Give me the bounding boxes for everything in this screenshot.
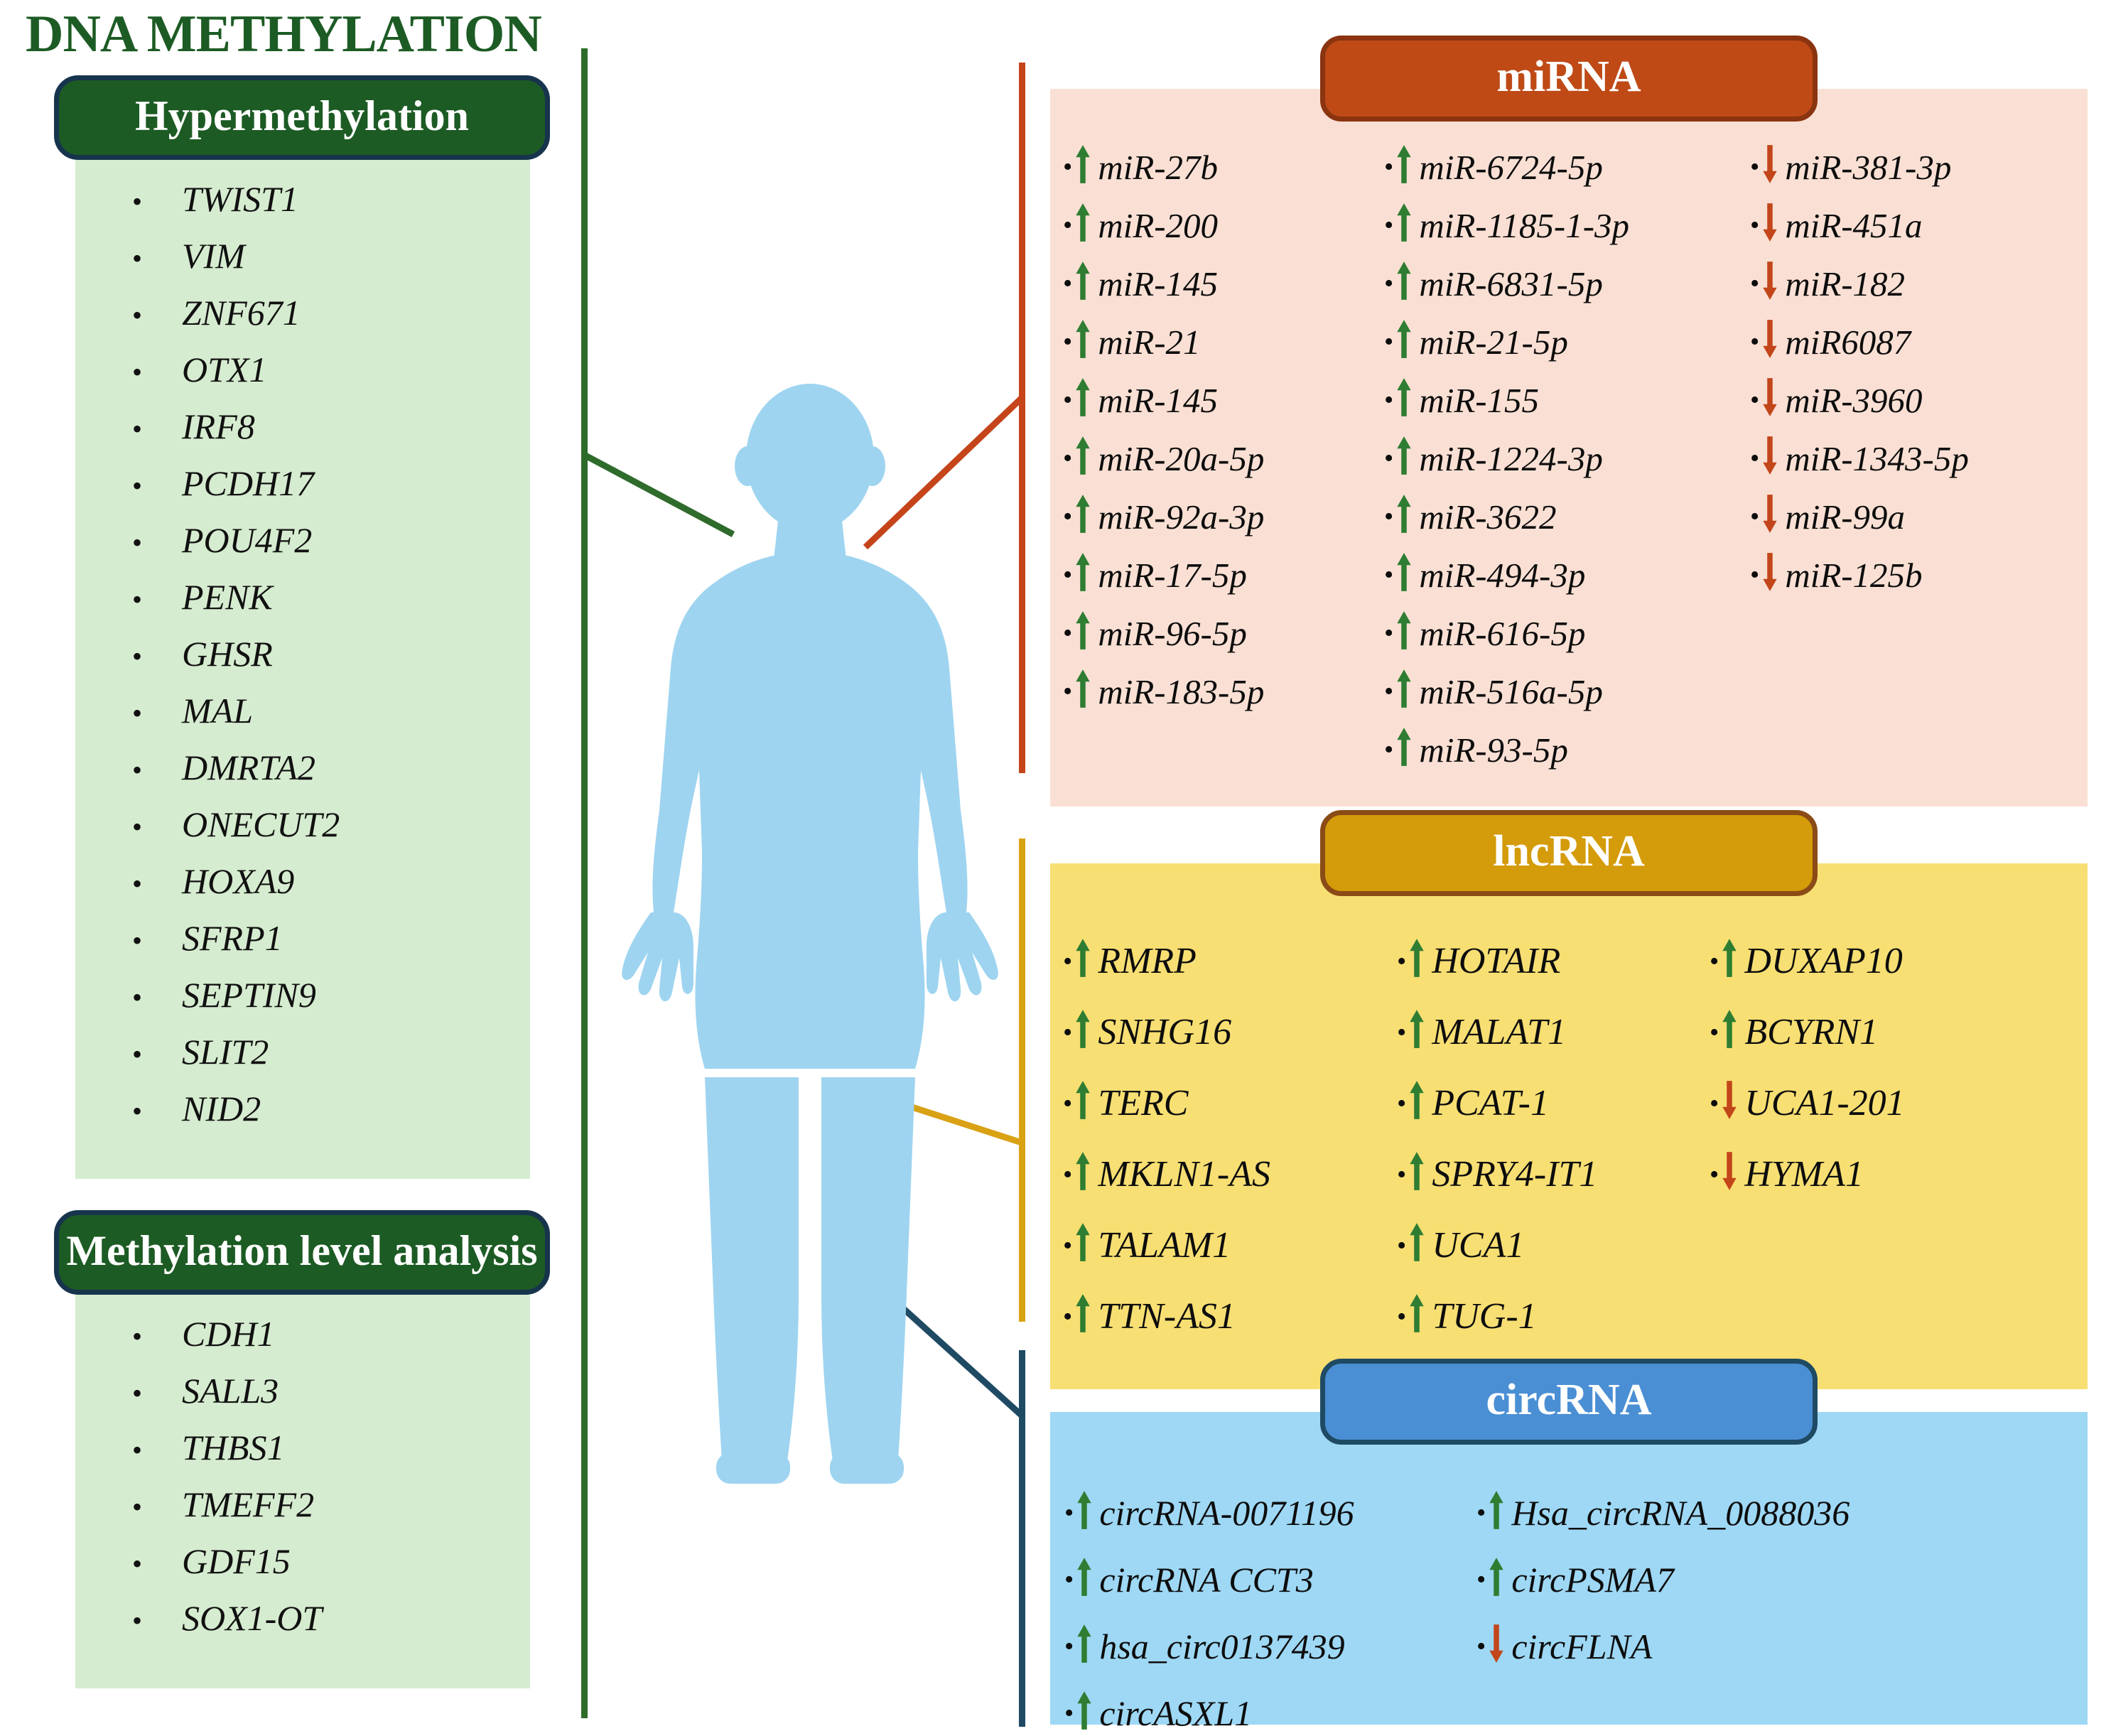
bullet-icon: • (1397, 1019, 1406, 1046)
arrow-up-icon (1074, 1293, 1091, 1333)
gene-list-item: •TWIST1 (75, 181, 530, 217)
mirna-column-3: •miR-381-3p•miR-451a•miR-182•miR6087•miR… (1750, 144, 2073, 778)
regulation-down-icon (1761, 436, 1780, 481)
rna-name: miR-182 (1785, 266, 1905, 301)
rna-list-item: •RMRP (1063, 938, 1397, 985)
rna-list-item: •hsa_circ0137439 (1064, 1624, 1476, 1669)
arrow-up-icon (1074, 436, 1091, 475)
bullet-icon: • (75, 1379, 182, 1408)
arrow-up-icon (1408, 1151, 1425, 1191)
rna-name: miR-27b (1098, 150, 1218, 185)
regulation-down-icon (1761, 494, 1780, 539)
bullet-icon: • (1063, 270, 1072, 297)
rna-name: miR-6831-5p (1419, 266, 1603, 301)
regulation-up-icon (1074, 669, 1093, 714)
rna-list-item: •miR-93-5p (1384, 727, 1750, 772)
regulation-up-icon (1074, 377, 1093, 423)
bullet-icon: • (1384, 387, 1393, 414)
rna-name: circRNA CCT3 (1099, 1562, 1313, 1597)
rna-name: miR-1224-3p (1419, 441, 1603, 476)
bullet-icon: • (1384, 736, 1393, 763)
bullet-icon: • (1384, 445, 1393, 472)
bullet-icon: • (75, 472, 182, 500)
rna-list-item: •BCYRN1 (1710, 1009, 2036, 1056)
regulation-up-icon (1074, 1222, 1093, 1269)
regulation-up-icon (1395, 494, 1414, 539)
rna-name: miR-17-5p (1098, 558, 1247, 593)
arrow-up-icon (1395, 261, 1413, 301)
gene-name: PCDH17 (182, 465, 314, 501)
bullet-icon: • (1384, 678, 1393, 705)
gene-name: GDF15 (182, 1543, 291, 1579)
bullet-icon: • (1397, 1161, 1406, 1188)
gene-list-item: •ZNF671 (75, 295, 530, 330)
regulation-up-icon (1488, 1557, 1506, 1602)
regulation-up-icon (1074, 1151, 1093, 1198)
regulation-down-icon (1721, 1151, 1739, 1198)
rna-list-item: •TUG-1 (1397, 1293, 1710, 1340)
rna-list-item: •miR-21-5p (1384, 319, 1750, 365)
regulation-up-icon (1074, 1080, 1093, 1127)
rna-name: TERC (1098, 1085, 1188, 1122)
rna-name: RMRP (1098, 943, 1197, 980)
rna-name: miR-494-3p (1419, 558, 1585, 593)
regulation-up-icon (1488, 1490, 1506, 1536)
rna-name: miR-516a-5p (1419, 674, 1603, 709)
rna-name: circRNA-0071196 (1099, 1495, 1354, 1531)
gene-list-item: •IRF8 (75, 409, 530, 444)
rna-name: HYMA1 (1744, 1156, 1864, 1193)
gene-name: CDH1 (182, 1316, 275, 1352)
rna-name: miR-21 (1098, 325, 1200, 360)
gene-list-item: •THBS1 (75, 1430, 530, 1465)
rna-name: BCYRN1 (1744, 1014, 1878, 1051)
gene-name: NID2 (182, 1091, 261, 1126)
bullet-icon: • (1476, 1633, 1486, 1660)
bullet-icon: • (1476, 1566, 1486, 1593)
regulation-up-icon (1408, 1222, 1427, 1269)
rna-list-item: •miR-1224-3p (1384, 436, 1750, 481)
rna-list-item: •miR-99a (1750, 494, 2073, 539)
rna-name: miR-21-5p (1419, 325, 1568, 360)
rna-list-item: •SNHG16 (1063, 1009, 1397, 1056)
arrow-up-icon (1074, 669, 1091, 708)
rna-name: miR-145 (1098, 383, 1218, 418)
regulation-down-icon (1721, 1080, 1739, 1127)
arrow-up-icon (1076, 1490, 1093, 1530)
gene-list-item: •SEPTIN9 (75, 977, 530, 1013)
rna-list-item: •miR-451a (1750, 203, 2073, 248)
arrow-up-icon (1074, 203, 1091, 242)
arrow-up-icon (1074, 552, 1091, 592)
arrow-up-icon (1395, 610, 1413, 650)
arrow-up-icon (1395, 319, 1413, 359)
bullet-icon: • (1384, 503, 1393, 530)
bullet-icon: • (1384, 561, 1393, 588)
rna-list-item: •miR-6724-5p (1384, 144, 1750, 190)
page-title: DNA METHYLATION (26, 4, 541, 65)
regulation-up-icon (1076, 1691, 1094, 1736)
regulation-up-icon (1395, 669, 1414, 714)
arrow-up-icon (1074, 1151, 1091, 1191)
rna-list-item: •SPRY4-IT1 (1397, 1151, 1710, 1198)
rna-name: miR-3960 (1785, 383, 1922, 418)
gene-name: SEPTIN9 (182, 977, 316, 1013)
bullet-icon: • (75, 1607, 182, 1635)
rna-name: miR-1185-1-3p (1419, 208, 1629, 243)
rna-name: miR6087 (1785, 325, 1911, 360)
arrow-up-icon (1395, 669, 1413, 708)
regulation-up-icon (1074, 610, 1093, 656)
bullet-icon: • (75, 415, 182, 443)
gene-list-item: •MAL (75, 693, 530, 728)
rna-name: circFLNA (1511, 1629, 1652, 1664)
arrow-down-icon (1761, 319, 1778, 359)
rna-name: SPRY4-IT1 (1432, 1156, 1597, 1193)
regulation-up-icon (1408, 1080, 1427, 1127)
regulation-up-icon (1395, 144, 1414, 190)
arrow-up-icon (1074, 494, 1091, 534)
rna-name: miR-200 (1098, 208, 1218, 243)
arrow-down-icon (1761, 436, 1778, 475)
arrow-up-icon (1074, 1009, 1091, 1049)
gene-name: VIM (182, 238, 245, 274)
regulation-up-icon (1074, 144, 1093, 190)
rna-name: SNHG16 (1098, 1014, 1231, 1051)
regulation-up-icon (1395, 319, 1414, 365)
rna-list-item: •Hsa_circRNA_0088036 (1476, 1490, 1917, 1536)
gene-name: ONECUT2 (182, 807, 340, 842)
bullet-icon: • (75, 1097, 182, 1126)
bullet-icon: • (75, 870, 182, 898)
regulation-up-icon (1074, 261, 1093, 306)
bullet-icon: • (75, 927, 182, 955)
arrow-up-icon (1395, 144, 1413, 184)
arrow-up-icon (1721, 1009, 1738, 1049)
bullet-icon: • (1750, 503, 1759, 530)
rna-name: Hsa_circRNA_0088036 (1511, 1495, 1849, 1531)
rna-name: miR-93-5p (1419, 733, 1568, 767)
rna-name: miR-96-5p (1098, 616, 1247, 651)
rna-name: TTN-AS1 (1098, 1298, 1236, 1335)
rna-list-item: •miR-183-5p (1063, 669, 1384, 714)
regulation-up-icon (1395, 552, 1414, 598)
bullet-icon: • (1063, 445, 1072, 472)
arrow-up-icon (1076, 1557, 1093, 1597)
rna-name: circASXL1 (1099, 1695, 1252, 1731)
bullet-icon: • (1397, 948, 1406, 975)
rna-name: DUXAP10 (1744, 943, 1902, 980)
regulation-up-icon (1076, 1624, 1094, 1669)
rna-list-item: •miR-1343-5p (1750, 436, 2073, 481)
rna-list-item: •miR-3960 (1750, 377, 2073, 423)
bullet-icon: • (1397, 1303, 1406, 1330)
bullet-icon: • (75, 813, 182, 841)
gene-name: TMEFF2 (182, 1487, 314, 1522)
bullet-icon: • (1063, 620, 1072, 647)
rna-list-item: •miR-6831-5p (1384, 261, 1750, 306)
rna-name: miR-381-3p (1785, 150, 1951, 185)
arrow-up-icon (1408, 1009, 1425, 1049)
bullet-icon: • (1063, 1303, 1072, 1330)
bullet-icon: • (1476, 1499, 1486, 1526)
rna-list-item: •miR-3622 (1384, 494, 1750, 539)
regulation-up-icon (1074, 552, 1093, 598)
bullet-icon: • (1063, 503, 1072, 530)
gene-name: HOXA9 (182, 863, 294, 899)
bullet-icon: • (1063, 328, 1072, 355)
gene-list-item: •NID2 (75, 1091, 530, 1126)
bullet-icon: • (1384, 620, 1393, 647)
rna-list-item: •MALAT1 (1397, 1009, 1710, 1056)
arrow-up-icon (1074, 938, 1091, 978)
rna-name: UCA1-201 (1744, 1085, 1904, 1122)
circrna-header: circRNA (1320, 1359, 1818, 1445)
arrow-up-icon (1395, 552, 1413, 592)
regulation-up-icon (1395, 261, 1414, 306)
arrow-up-icon (1408, 1293, 1425, 1333)
gene-name: THBS1 (182, 1430, 284, 1465)
arrow-up-icon (1074, 377, 1091, 417)
arrow-down-icon (1488, 1624, 1505, 1664)
gene-list-item: •GDF15 (75, 1543, 530, 1579)
gene-name: DMRTA2 (182, 750, 315, 785)
rna-list-item: •miR-21 (1063, 319, 1384, 365)
rna-list-item: •miR-200 (1063, 203, 1384, 248)
arrow-up-icon (1488, 1557, 1505, 1597)
rna-list-item: •miR-516a-5p (1384, 669, 1750, 714)
rna-list-item: •miR-20a-5p (1063, 436, 1384, 481)
bullet-icon: • (1750, 445, 1759, 472)
regulation-up-icon (1721, 1009, 1739, 1056)
regulation-up-icon (1074, 494, 1093, 539)
hypermethylation-header: Hypermethylation (54, 75, 550, 160)
arrow-down-icon (1761, 494, 1778, 534)
lncrna-column-3: •DUXAP10•BCYRN1•UCA1-201•HYMA1 (1710, 938, 2036, 1361)
rna-list-item: •circRNA-0071196 (1064, 1490, 1476, 1536)
regulation-up-icon (1074, 203, 1093, 248)
arrow-up-icon (1074, 144, 1091, 184)
bullet-icon: • (1750, 328, 1759, 355)
lncrna-column-2: •HOTAIR•MALAT1•PCAT-1•SPRY4-IT1•UCA1•TUG… (1397, 938, 1710, 1361)
regulation-up-icon (1408, 1009, 1427, 1056)
arrow-up-icon (1074, 319, 1091, 359)
gene-list-item: •SALL3 (75, 1373, 530, 1408)
rna-name: miR-99a (1785, 500, 1905, 534)
gene-list-item: •SOX1-OT (75, 1600, 530, 1636)
rna-list-item: •miR-125b (1750, 552, 2073, 598)
gene-list-item: •VIM (75, 238, 530, 274)
regulation-down-icon (1761, 552, 1780, 598)
rna-name: miR-3622 (1419, 500, 1556, 534)
rna-list-item: •PCAT-1 (1397, 1080, 1710, 1127)
bullet-icon: • (1710, 1161, 1719, 1188)
regulation-up-icon (1074, 436, 1093, 481)
regulation-up-icon (1395, 610, 1414, 656)
arrow-up-icon (1074, 610, 1091, 650)
rna-name: TUG-1 (1432, 1298, 1536, 1335)
bullet-icon: • (75, 1436, 182, 1465)
arrow-down-icon (1761, 377, 1778, 417)
bullet-icon: • (1064, 1499, 1074, 1526)
gene-name: GHSR (182, 636, 273, 672)
rna-list-item: •miR-381-3p (1750, 144, 2073, 190)
arrow-up-icon (1074, 1080, 1091, 1120)
gene-name: PENK (182, 579, 273, 615)
rna-name: miR-20a-5p (1098, 441, 1264, 476)
bullet-icon: • (1063, 561, 1072, 588)
circrna-column-1: •circRNA-0071196•circRNA CCT3•hsa_circ01… (1064, 1490, 1476, 1696)
regulation-up-icon (1408, 1293, 1427, 1340)
regulation-up-icon (1074, 1293, 1093, 1340)
arrow-down-icon (1761, 261, 1778, 301)
rna-name: miR-155 (1419, 383, 1539, 418)
gene-name: ZNF671 (182, 295, 301, 330)
rna-list-item: •circRNA CCT3 (1064, 1557, 1476, 1602)
arrow-up-icon (1408, 938, 1425, 978)
bullet-icon: • (1064, 1633, 1074, 1660)
arrow-up-icon (1395, 203, 1413, 242)
arrow-up-icon (1408, 1222, 1425, 1262)
bullet-icon: • (75, 983, 182, 1012)
bullet-icon: • (75, 301, 182, 330)
gene-name: SLIT2 (182, 1034, 269, 1069)
lncrna-column-1: •RMRP•SNHG16•TERC•MKLN1-AS•TALAM1•TTN-AS… (1063, 938, 1397, 1361)
rna-list-item: •miR-494-3p (1384, 552, 1750, 598)
bullet-icon: • (1063, 387, 1072, 414)
rna-list-item: •DUXAP10 (1710, 938, 2036, 985)
rna-name: MALAT1 (1432, 1014, 1566, 1051)
rna-name: MKLN1-AS (1098, 1156, 1270, 1193)
rna-list-item: •UCA1-201 (1710, 1080, 2036, 1127)
rna-list-item: •TALAM1 (1063, 1222, 1397, 1269)
lncrna-header: lncRNA (1320, 810, 1818, 896)
gene-list-item: •OTX1 (75, 352, 530, 387)
bullet-icon: • (1397, 1090, 1406, 1117)
rna-name: miR-451a (1785, 208, 1922, 243)
regulation-up-icon (1076, 1557, 1094, 1602)
rna-list-item: •miR-155 (1384, 377, 1750, 423)
rna-list-item: •miR-27b (1063, 144, 1384, 190)
gene-name: OTX1 (182, 352, 266, 387)
regulation-down-icon (1488, 1624, 1506, 1669)
bullet-icon: • (1710, 1019, 1719, 1046)
arrow-up-icon (1074, 261, 1091, 301)
gene-list-item: •CDH1 (75, 1316, 530, 1352)
regulation-down-icon (1761, 319, 1780, 365)
arrow-up-icon (1074, 1222, 1091, 1262)
gene-name: IRF8 (182, 409, 255, 444)
bullet-icon: • (1384, 212, 1393, 239)
gene-list-item: •POU4F2 (75, 522, 530, 558)
rna-list-item: •circPSMA7 (1476, 1557, 1917, 1602)
bullet-icon: • (75, 188, 182, 216)
bullet-icon: • (1064, 1566, 1074, 1593)
rna-name: miR-183-5p (1098, 674, 1264, 709)
bullet-icon: • (1063, 1232, 1072, 1259)
arrow-down-icon (1761, 552, 1778, 592)
rna-name: miR-92a-3p (1098, 500, 1264, 534)
bullet-icon: • (1710, 948, 1719, 975)
gene-list-item: •SLIT2 (75, 1034, 530, 1069)
bullet-icon: • (75, 586, 182, 614)
regulation-down-icon (1761, 144, 1780, 190)
bullet-icon: • (75, 699, 182, 728)
bullet-icon: • (1064, 1700, 1074, 1727)
bullet-icon: • (75, 1322, 182, 1351)
connector-spine-lncrna (1019, 839, 1025, 1322)
gene-list-item: •PENK (75, 579, 530, 615)
rna-list-item: •circFLNA (1476, 1624, 1917, 1669)
mirna-column-1: •miR-27b•miR-200•miR-145•miR-21•miR-145•… (1063, 144, 1384, 778)
arrow-up-icon (1395, 436, 1413, 475)
bullet-icon: • (1063, 1090, 1072, 1117)
rna-list-item: •miR6087 (1750, 319, 2073, 365)
bullet-icon: • (1750, 153, 1759, 180)
rna-name: HOTAIR (1432, 943, 1560, 980)
rna-list-item: •UCA1 (1397, 1222, 1710, 1269)
rna-list-item: •circASXL1 (1064, 1691, 1476, 1736)
rna-list-item: •MKLN1-AS (1063, 1151, 1397, 1198)
rna-name: circPSMA7 (1511, 1562, 1674, 1597)
bullet-icon: • (1710, 1090, 1719, 1117)
bullet-icon: • (1397, 1232, 1406, 1259)
connector-spine-circrna (1019, 1350, 1025, 1727)
arrow-up-icon (1395, 377, 1413, 417)
gene-list-item: •SFRP1 (75, 920, 530, 956)
arrow-down-icon (1721, 1151, 1738, 1191)
rna-name: TALAM1 (1098, 1227, 1231, 1264)
arrow-up-icon (1076, 1624, 1093, 1664)
human-body-silhouette (611, 384, 1009, 1492)
rna-list-item: •HOTAIR (1397, 938, 1710, 985)
methylation-level-gene-list: •CDH1•SALL3•THBS1•TMEFF2•GDF15•SOX1-OT (75, 1288, 530, 1688)
regulation-down-icon (1761, 261, 1780, 306)
bullet-icon: • (75, 529, 182, 557)
bullet-icon: • (75, 358, 182, 387)
gene-list-item: •GHSR (75, 636, 530, 672)
bullet-icon: • (1750, 270, 1759, 297)
arrow-up-icon (1395, 494, 1413, 534)
rna-list-item: •TTN-AS1 (1063, 1293, 1397, 1340)
bullet-icon: • (1063, 212, 1072, 239)
bullet-icon: • (1063, 1019, 1072, 1046)
arrow-up-icon (1408, 1080, 1425, 1120)
regulation-down-icon (1761, 377, 1780, 423)
arrow-down-icon (1721, 1080, 1738, 1120)
bullet-icon: • (1063, 678, 1072, 705)
regulation-up-icon (1074, 319, 1093, 365)
rna-name: miR-125b (1785, 558, 1922, 593)
bullet-icon: • (75, 1493, 182, 1521)
arrow-down-icon (1761, 144, 1778, 184)
arrow-up-icon (1721, 938, 1738, 978)
regulation-up-icon (1074, 1009, 1093, 1056)
arrow-up-icon (1488, 1490, 1505, 1530)
rna-name: miR-145 (1098, 266, 1218, 301)
circrna-column-2: •Hsa_circRNA_0088036•circPSMA7•circFLNA (1476, 1490, 1917, 1696)
mirna-column-2: •miR-6724-5p•miR-1185-1-3p•miR-6831-5p•m… (1384, 144, 1750, 778)
rna-list-item: •miR-1185-1-3p (1384, 203, 1750, 248)
methylation-level-analysis-header: Methylation level analysis (54, 1210, 550, 1295)
rna-name: miR-1343-5p (1785, 441, 1969, 476)
dna-methylation-column: Hypermethylation •TWIST1•VIM•ZNF671•OTX1… (54, 75, 551, 1695)
bullet-icon: • (1063, 1161, 1072, 1188)
bullet-icon: • (1750, 387, 1759, 414)
rna-name: PCAT-1 (1432, 1085, 1549, 1122)
arrow-up-icon (1076, 1691, 1093, 1730)
bullet-icon: • (1384, 328, 1393, 355)
